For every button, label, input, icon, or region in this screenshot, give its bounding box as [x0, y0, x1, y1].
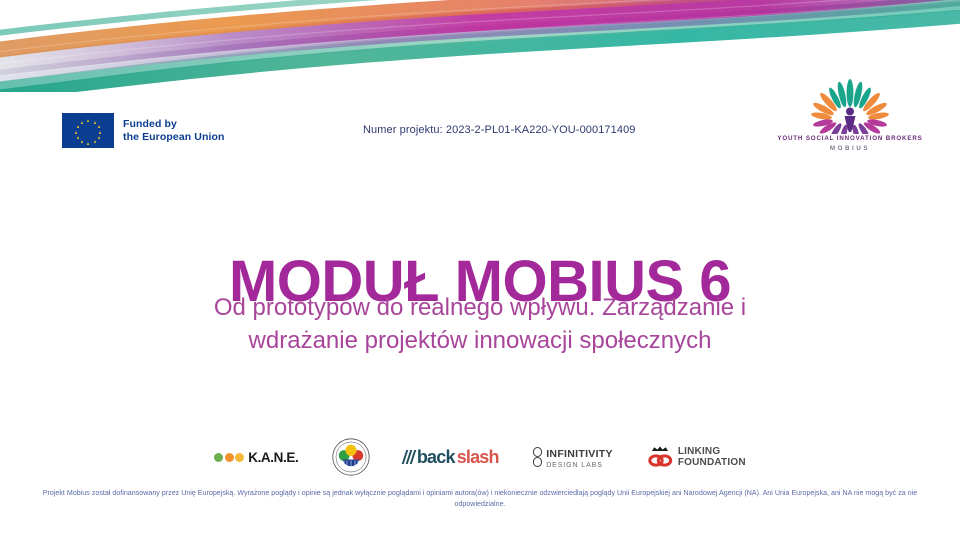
- infinitivity-label: INFINITIVITY: [546, 448, 613, 460]
- partner-logo-infinitivity: INFINITIVITY DESIGN LABS: [533, 445, 613, 470]
- infinity-rings-icon: [533, 447, 543, 467]
- mobius-logo-subname: MOBIUS: [762, 145, 938, 152]
- linking-label-line2: FOUNDATION: [678, 458, 746, 468]
- partner-logo-kane: K.A.N.E.: [214, 450, 298, 465]
- kane-dots-icon: [214, 453, 244, 462]
- eu-funding-logo: Funded by the European Union: [62, 113, 225, 148]
- eu-funding-text: Funded by the European Union: [123, 118, 225, 143]
- partner-logo-seal: [332, 438, 370, 476]
- eu-funding-line2: the European Union: [123, 131, 225, 144]
- slide-subtitle: Od prototypów do realnego wpływu. Zarząd…: [180, 291, 780, 357]
- seal-emblem-icon: [332, 438, 370, 476]
- crown-icon: [652, 446, 668, 451]
- eu-disclaimer-text: Projekt Mobius został dofinansowany prze…: [38, 488, 922, 510]
- linking-label-line1: LINKING: [678, 447, 746, 457]
- mobius-logo-name: YOUTH SOCIAL INNOVATION BROKERS: [762, 135, 938, 142]
- backslash-label-slash: slash: [457, 447, 499, 468]
- partner-logos-row: K.A.N.E.: [0, 434, 960, 480]
- linking-chain-icon: [647, 445, 673, 469]
- backslash-label-back: back: [417, 447, 455, 468]
- infinitivity-tagline: DESIGN LABS: [546, 462, 613, 469]
- partner-logo-backslash: back slash: [404, 447, 498, 468]
- kane-label: K.A.N.E.: [248, 450, 298, 465]
- mobius-brand-logo: YOUTH SOCIAL INNOVATION BROKERS MOBIUS: [762, 76, 938, 158]
- project-number-text: Numer projektu: 2023-2-PL01-KA220-YOU-00…: [363, 124, 636, 136]
- eu-flag-icon: [62, 113, 114, 148]
- backslash-marks-icon: [404, 450, 414, 464]
- presentation-slide: Funded by the European Union Numer proje…: [0, 0, 960, 540]
- mobius-emblem-icon: [762, 76, 938, 134]
- eu-funding-line1: Funded by: [123, 118, 225, 131]
- partner-logo-linking-foundation: LINKING FOUNDATION: [647, 445, 746, 469]
